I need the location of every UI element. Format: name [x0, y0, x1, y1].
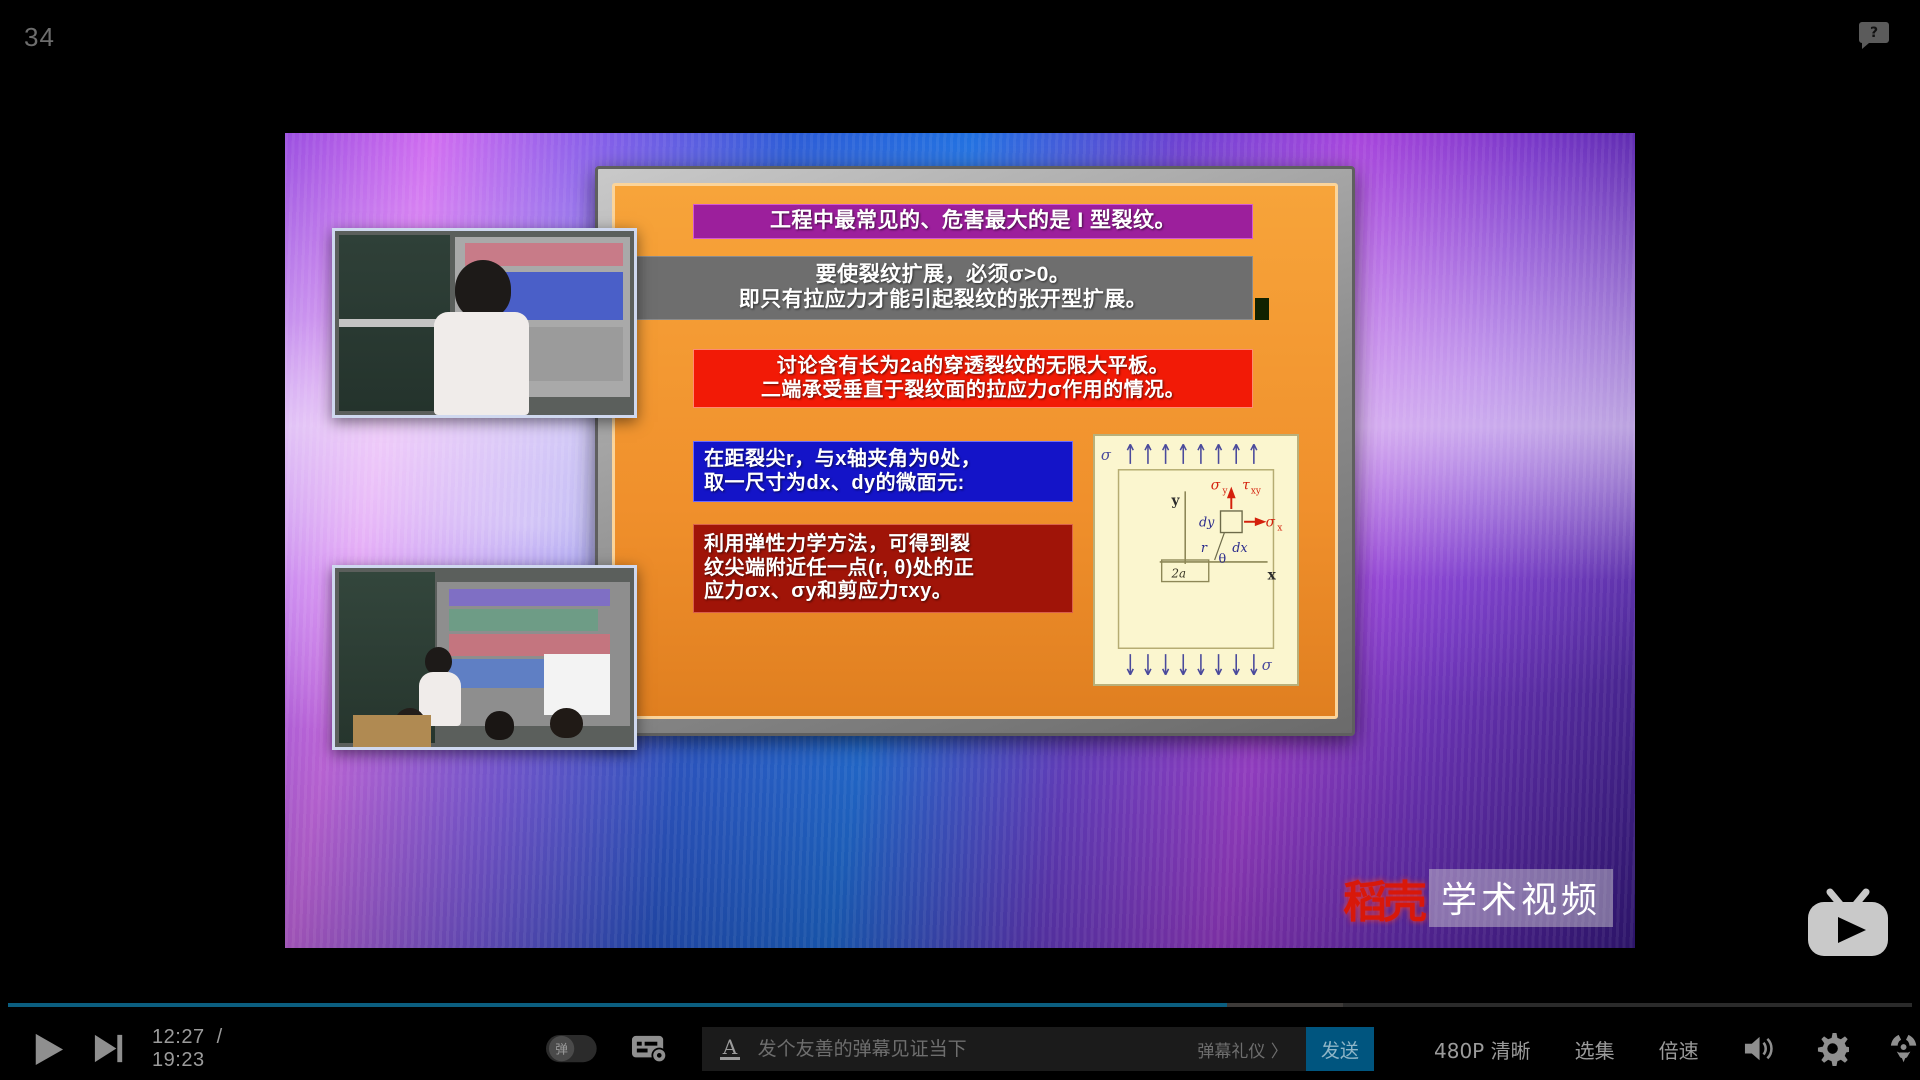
volume-icon[interactable] — [1743, 1033, 1776, 1065]
lecture-slide: 工程中最常见的、危害最大的是 I 型裂纹。 要使裂纹扩展，必须σ>0。 即只有拉… — [612, 183, 1338, 719]
episodes-button[interactable]: 选集 — [1575, 1035, 1615, 1064]
send-danmaku-button[interactable]: 发送 — [1306, 1027, 1374, 1071]
lecture-slide-panel: 工程中最常见的、危害最大的是 I 型裂纹。 要使裂纹扩展，必须σ>0。 即只有拉… — [595, 166, 1355, 736]
video-watermark: 稻壳 学术视频 — [1343, 866, 1613, 930]
slide-box-blue-line2: 取一尺寸为dx、dy的微面元: — [704, 472, 1062, 496]
fullscreen-icon[interactable] — [1887, 1032, 1920, 1066]
slide-box-gray-line2: 即只有拉应力才能引起裂纹的张开型扩展。 — [642, 288, 1244, 313]
slide-box-gray-line1: 要使裂纹扩展，必须σ>0。 — [642, 263, 1244, 288]
svg-text:σ: σ — [1266, 515, 1276, 531]
svg-text:σ: σ — [1211, 477, 1221, 493]
inset-classroom-camera — [332, 565, 637, 750]
svg-text:?: ? — [1870, 25, 1878, 41]
time-current: 12:27 — [152, 1026, 205, 1048]
slide-box-gray: 要使裂纹扩展，必须σ>0。 即只有拉应力才能引起裂纹的张开型扩展。 — [633, 256, 1253, 320]
danmaku-etiquette-link[interactable]: 弹幕礼仪 〉 — [1197, 1037, 1287, 1062]
quality-selector[interactable]: 480P 清晰 — [1434, 1035, 1531, 1064]
time-total: 19:23 — [152, 1049, 205, 1071]
bilibili-tv-logo[interactable] — [1800, 888, 1896, 966]
question-bubble-icon[interactable]: ? — [1858, 20, 1890, 50]
watermark-seal: 稻壳 — [1343, 866, 1423, 930]
slide-box-darkred-line3: 应力σx、σy和剪应力τxy。 — [704, 580, 1062, 604]
progress-bar[interactable] — [0, 1002, 1920, 1008]
video-player-surface[interactable]: 工程中最常见的、危害最大的是 I 型裂纹。 要使裂纹扩展，必须σ>0。 即只有拉… — [285, 133, 1635, 948]
danmaku-input[interactable] — [758, 1038, 1198, 1060]
slide-tab-right — [1255, 298, 1269, 320]
crack-stress-figure: σ σ σ y τ xy σ x dy dx r θ 2a x y — [1093, 434, 1299, 686]
time-display: 12:27 / 19:23 — [152, 1026, 284, 1072]
slide-box-blue: 在距裂尖r，与x轴夹角为θ处， 取一尺寸为dx、dy的微面元: — [693, 441, 1073, 502]
playback-speed-button[interactable]: 倍速 — [1659, 1035, 1699, 1064]
time-separator: / — [217, 1026, 223, 1048]
slide-box-red-line1: 讨论含有长为2a的穿透裂纹的无限大平板。 — [702, 355, 1244, 379]
top-bar: 34 ? — [0, 0, 1920, 72]
page-number: 34 — [24, 22, 55, 53]
svg-text:σ: σ — [1262, 657, 1273, 674]
svg-text:dx: dx — [1232, 541, 1247, 556]
svg-text:y: y — [1221, 486, 1227, 496]
svg-text:r: r — [1201, 541, 1208, 556]
slide-box-darkred-line1: 利用弹性力学方法，可得到裂 — [704, 533, 1062, 557]
danmaku-input-container[interactable]: A 弹幕礼仪 〉 — [702, 1027, 1306, 1071]
svg-text:x: x — [1268, 568, 1277, 584]
slide-box-blue-line1: 在距裂尖r，与x轴夹角为θ处， — [704, 448, 1062, 472]
svg-text:y: y — [1170, 493, 1180, 509]
slide-box-purple: 工程中最常见的、危害最大的是 I 型裂纹。 — [693, 204, 1253, 239]
svg-text:θ: θ — [1219, 552, 1227, 567]
slide-box-red: 讨论含有长为2a的穿透裂纹的无限大平板。 二端承受垂直于裂纹面的拉应力σ作用的情… — [693, 349, 1253, 408]
inset-lecturer-camera — [332, 228, 637, 418]
svg-text:弹: 弹 — [555, 1042, 568, 1057]
progress-played — [8, 1003, 1227, 1007]
svg-text:2a: 2a — [1170, 567, 1185, 581]
slide-box-darkred: 利用弹性力学方法，可得到裂 纹尖端附近任一点(r, θ)处的正 应力σx、σy和… — [693, 524, 1073, 613]
svg-text:xy: xy — [1251, 486, 1261, 496]
svg-text:x: x — [1277, 524, 1282, 534]
svg-text:dy: dy — [1199, 516, 1215, 531]
next-episode-button[interactable] — [91, 1030, 124, 1068]
gear-icon[interactable] — [1816, 1032, 1849, 1066]
svg-text:A: A — [721, 1035, 737, 1059]
danmaku-settings-icon[interactable] — [631, 1032, 668, 1066]
slide-box-red-line2: 二端承受垂直于裂纹面的拉应力σ作用的情况。 — [702, 379, 1244, 403]
player-control-bar: 12:27 / 19:23 弹 A 弹幕礼仪 〉 发送 480P 清晰 选集 倍… — [0, 1018, 1920, 1080]
svg-text:σ: σ — [1101, 447, 1112, 464]
svg-text:τ: τ — [1242, 477, 1250, 493]
danmaku-font-icon[interactable]: A — [716, 1034, 744, 1064]
watermark-text: 学术视频 — [1429, 869, 1613, 927]
play-button[interactable] — [26, 1027, 69, 1071]
slide-box-darkred-line2: 纹尖端附近任一点(r, θ)处的正 — [704, 557, 1062, 581]
danmaku-toggle[interactable]: 弹 — [546, 1033, 597, 1065]
